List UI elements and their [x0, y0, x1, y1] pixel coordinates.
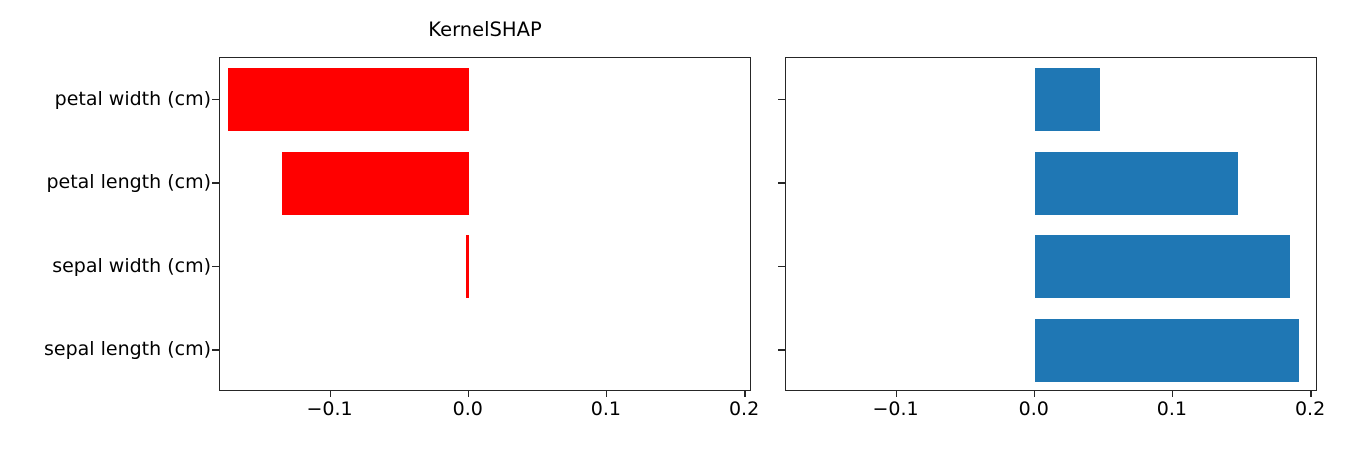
figure-canvas: KernelSHAP petal width (cm)petal length … — [0, 0, 1350, 450]
subplot-lime: LIME −0.10.00.10.2 — [675, 0, 1350, 450]
y-tick-mark — [778, 99, 785, 101]
y-axis-ticks-right — [0, 0, 1350, 450]
y-tick-mark — [778, 182, 785, 184]
y-tick-mark — [778, 266, 785, 268]
y-tick-mark — [778, 349, 785, 351]
